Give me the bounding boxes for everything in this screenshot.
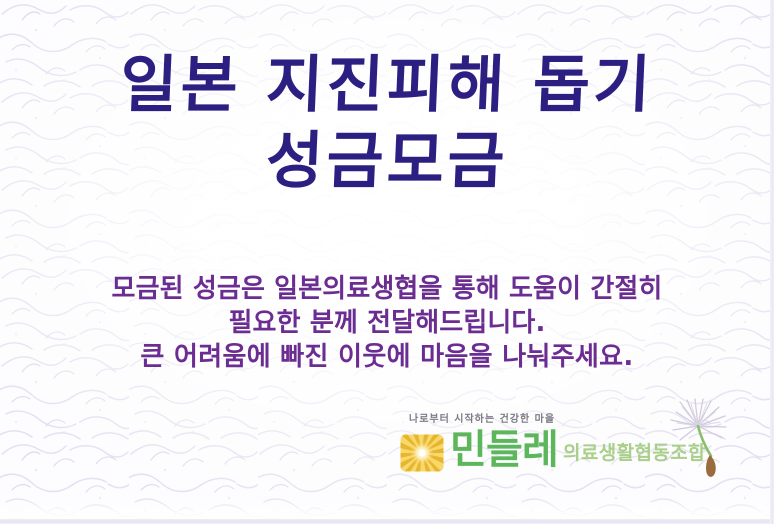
dandelion-seed-icon bbox=[668, 398, 738, 484]
sunburst-icon bbox=[400, 434, 444, 472]
logo-tagline: 나로부터 시작하는 건강한 마을 bbox=[409, 410, 555, 425]
body-line-2: 필요한 분께 전달해드립니다. bbox=[0, 306, 774, 340]
poster-headline: 일본 지진피해 돕기 성금모금 bbox=[0, 48, 774, 198]
headline-line-2: 성금모금 bbox=[0, 124, 774, 198]
body-line-3: 큰 어려움에 빠진 이웃에 마음을 나눠주세요. bbox=[0, 340, 774, 374]
headline-line-1: 일본 지진피해 돕기 bbox=[0, 48, 774, 122]
logo-lockup-row: 민들레 의료생활협동조합 bbox=[400, 430, 706, 472]
logo-wordmark: 민들레 bbox=[450, 430, 558, 470]
poster-body-text: 모금된 성금은 일본의료생협을 통해 도움이 간절히 필요한 분께 전달해드립니… bbox=[0, 272, 774, 374]
poster-content: 일본 지진피해 돕기 성금모금 모금된 성금은 일본의료생협을 통해 도움이 간… bbox=[0, 0, 774, 524]
poster-canvas: 일본 지진피해 돕기 성금모금 모금된 성금은 일본의료생협을 통해 도움이 간… bbox=[0, 0, 774, 524]
organization-logo: 나로부터 시작하는 건강한 마을 bbox=[400, 408, 730, 508]
body-line-1: 모금된 성금은 일본의료생협을 통해 도움이 간절히 bbox=[0, 272, 774, 306]
